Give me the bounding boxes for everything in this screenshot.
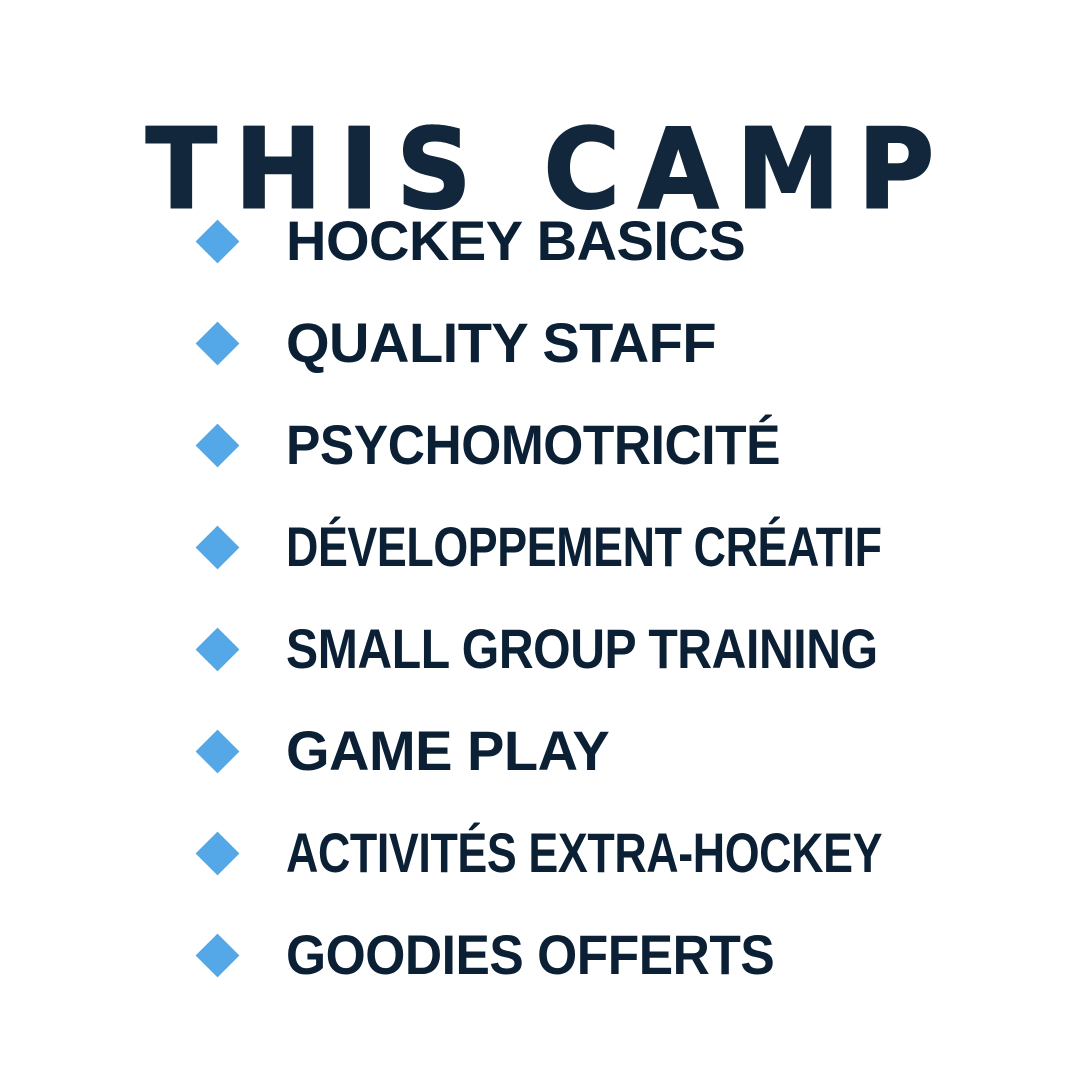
list-item: PSYCHOMOTRICITÉ: [196, 394, 1056, 496]
diamond-bullet-icon: [196, 423, 240, 467]
diamond-bullet-icon: [196, 321, 240, 365]
list-item: DÉVELOPPEMENT CRÉATIF: [196, 496, 1056, 598]
list-item-label: GAME PLAY: [286, 723, 609, 779]
camp-features-list: HOCKEY BASICS QUALITY STAFF PSYCHOMOTRIC…: [196, 190, 1056, 1006]
list-item-label: DÉVELOPPEMENT CRÉATIF: [286, 519, 882, 575]
diamond-bullet-icon: [196, 627, 240, 671]
list-item-label: ACTIVITÉS EXTRA-HOCKEY: [286, 825, 882, 881]
list-item-label: GOODIES OFFERTS: [286, 927, 774, 983]
diamond-bullet-icon: [196, 729, 240, 773]
diamond-bullet-icon: [196, 219, 240, 263]
diamond-bullet-icon: [196, 933, 240, 977]
list-item-label: QUALITY STAFF: [286, 315, 716, 371]
list-item: GOODIES OFFERTS: [196, 904, 1056, 1006]
list-item: HOCKEY BASICS: [196, 190, 1056, 292]
list-item-label: SMALL GROUP TRAINING: [286, 621, 878, 677]
list-item: ACTIVITÉS EXTRA-HOCKEY: [196, 802, 1056, 904]
list-item: QUALITY STAFF: [196, 292, 1056, 394]
list-item: SMALL GROUP TRAINING: [196, 598, 1056, 700]
diamond-bullet-icon: [196, 831, 240, 875]
diamond-bullet-icon: [196, 525, 240, 569]
list-item-label: PSYCHOMOTRICITÉ: [286, 417, 780, 473]
camp-features-poster: THIS CAMP HOCKEY BASICS QUALITY STAFF PS…: [0, 0, 1080, 1080]
list-item-label: HOCKEY BASICS: [286, 213, 745, 269]
list-item: GAME PLAY: [196, 700, 1056, 802]
